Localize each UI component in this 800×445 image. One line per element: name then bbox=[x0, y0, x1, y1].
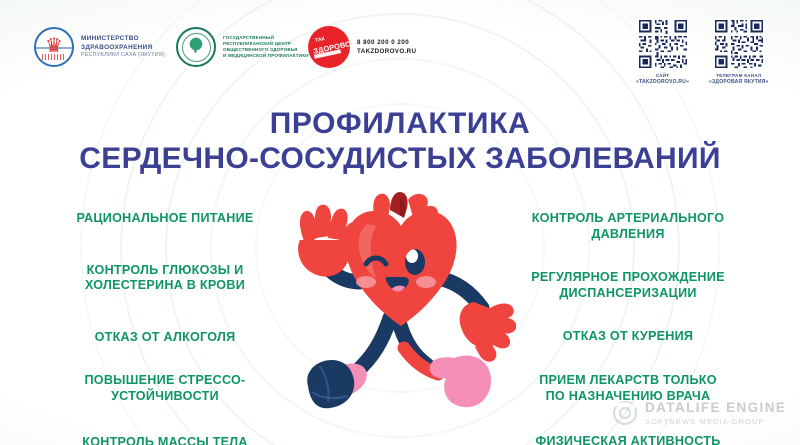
logo-takzdorovo: ТАК ЗДОРОВО 8 800 200 0 200 TAKZDOROVO.R… bbox=[308, 26, 416, 68]
left-leg bbox=[356, 318, 390, 372]
tips-column-left: РАЦИОНАЛЬНОЕ ПИТАНИЕ КОНТРОЛЬ ГЛЮКОЗЫ ИХ… bbox=[30, 205, 300, 445]
title-line-2: СЕРДЕЧНО-СОСУДИСТЫХ ЗАБОЛЕВАНИЙ bbox=[0, 141, 800, 176]
heart-body bbox=[345, 211, 456, 326]
ministry-line-2: ЗДРАВООХРАНЕНИЯ bbox=[81, 44, 165, 52]
qr-code-telegram[interactable]: ТЕЛЕГРАМ КАНАЛ «ЗДОРОВАЯ ЯКУТИЯ» bbox=[709, 18, 769, 85]
poster-canvas: ♛ МИНИСТЕРСТВО ЗДРАВООХРАНЕНИЯ РЕСПУБЛИК… bbox=[0, 0, 800, 445]
right-hand bbox=[460, 302, 516, 362]
ministry-emblem-icon: ♛ bbox=[34, 27, 74, 67]
tips-column-right: КОНТРОЛЬ АРТЕРИАЛЬНОГОДАВЛЕНИЯ РЕГУЛЯРНО… bbox=[492, 205, 764, 445]
qr-telegram-caption-line2: «ЗДОРОВАЯ ЯКУТИЯ» bbox=[709, 79, 769, 86]
takzdorovo-badge-icon: ТАК ЗДОРОВО bbox=[308, 26, 350, 68]
tip-item: ПРИЕМ ЛЕКАРСТВ ТОЛЬКОПО НАЗНАЧЕНИЮ ВРАЧА bbox=[492, 373, 764, 404]
logo-public-health-center: ГОСУДАРСТВЕННЫЙ РЕСПУБЛИКАНСКИЙ ЦЕНТР ОБ… bbox=[176, 27, 318, 67]
left-shoe bbox=[307, 360, 354, 408]
tip-item: КОНТРОЛЬ АРТЕРИАЛЬНОГОДАВЛЕНИЯ bbox=[492, 211, 764, 242]
right-foot-shape bbox=[430, 355, 491, 407]
center-line-3: И МЕДИЦИНСКОЙ ПРОФИЛАКТИКИ bbox=[223, 53, 318, 59]
tip-item: КОНТРОЛЬ ГЛЮКОЗЫ ИХОЛЕСТЕРИНА В КРОВИ bbox=[30, 263, 300, 294]
takzdorovo-badge-top: ТАК bbox=[314, 36, 325, 44]
qr-site-icon bbox=[637, 18, 689, 70]
qr-telegram-icon bbox=[713, 18, 765, 70]
right-cheek-blush bbox=[416, 276, 436, 288]
public-health-emblem-icon bbox=[176, 27, 216, 67]
ministry-line-3: РЕСПУБЛИКИ САХА (ЯКУТИЯ) bbox=[81, 52, 165, 59]
left-cheek-blush bbox=[356, 276, 376, 288]
qr-code-site[interactable]: САЙТ «TAKZDOROVO.RU» bbox=[636, 18, 689, 85]
takzdorovo-phone: 8 800 200 0 200 bbox=[357, 38, 416, 47]
tip-item: ОТКАЗ ОТ КУРЕНИЯ bbox=[492, 329, 764, 345]
qr-site-caption-line2: «TAKZDOROVO.RU» bbox=[636, 79, 689, 86]
heart-mascot-illustration bbox=[286, 190, 516, 430]
takzdorovo-site: TAKZDOROVO.RU bbox=[357, 47, 416, 56]
tip-item: КОНТРОЛЬ МАССЫ ТЕЛА bbox=[30, 435, 300, 445]
ministry-line-1: МИНИСТЕРСТВО bbox=[81, 35, 165, 43]
tip-item: РАЦИОНАЛЬНОЕ ПИТАНИЕ bbox=[30, 211, 300, 227]
winking-heart-icon bbox=[286, 190, 516, 430]
tip-item: ФИЗИЧЕСКАЯ АКТИВНОСТЬ bbox=[492, 434, 764, 445]
logo-ministry-of-health: ♛ МИНИСТЕРСТВО ЗДРАВООХРАНЕНИЯ РЕСПУБЛИК… bbox=[34, 27, 165, 67]
tip-item: ПОВЫШЕНИЕ СТРЕССО-УСТОЙЧИВОСТИ bbox=[30, 373, 300, 404]
center-line-1: ГОСУДАРСТВЕННЫЙ РЕСПУБЛИКАНСКИЙ ЦЕНТР bbox=[223, 35, 318, 47]
tip-item: ОТКАЗ ОТ АЛКОГОЛЯ bbox=[30, 330, 300, 346]
title-line-1: ПРОФИЛАКТИКА bbox=[0, 106, 800, 141]
header-logo-bar: ♛ МИНИСТЕРСТВО ЗДРАВООХРАНЕНИЯ РЕСПУБЛИК… bbox=[0, 0, 800, 92]
tip-item: РЕГУЛЯРНОЕ ПРОХОЖДЕНИЕДИСПАНСЕРИЗАЦИИ bbox=[492, 270, 764, 301]
poster-title: ПРОФИЛАКТИКА СЕРДЕЧНО-СОСУДИСТЫХ ЗАБОЛЕВ… bbox=[0, 106, 800, 177]
